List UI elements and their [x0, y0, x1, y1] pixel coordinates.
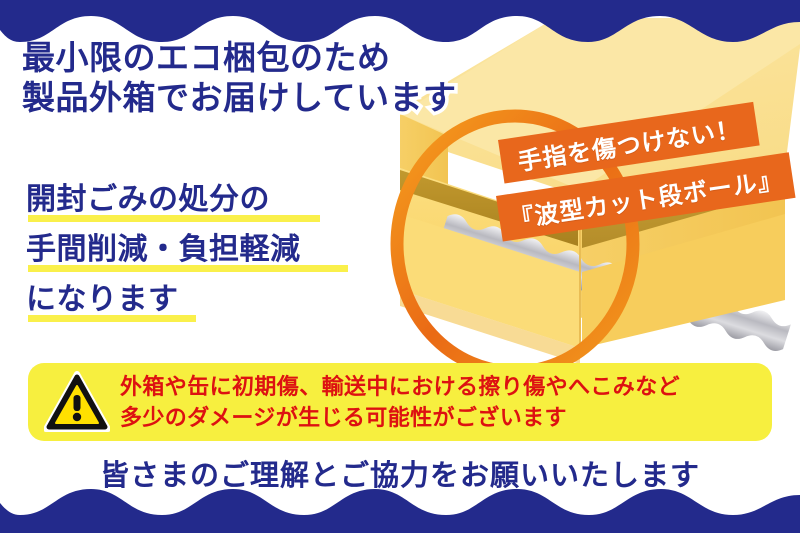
yellow-marker-1	[28, 215, 320, 222]
subcopy-line-3: になります	[26, 285, 179, 314]
headline-line-2: 製品外箱でお届けしています	[22, 78, 457, 118]
subcopy-line-1: 開封ごみの処分の	[26, 185, 270, 214]
yellow-marker-3	[28, 315, 196, 322]
warning-line-1: 外箱や缶に初期傷、輸送中における擦り傷やへこみなど	[120, 371, 680, 402]
warning-text: 外箱や缶に初期傷、輸送中における擦り傷やへこみなど 多少のダメージが生じる可能性…	[120, 371, 680, 433]
subcopy-block: 開封ごみの処分の 手間削減・負担軽減 になります	[26, 185, 301, 335]
promo-banner-canvas: 最小限のエコ梱包のため 最小限のエコ梱包のため 製品外箱でお届けしています 製品…	[0, 0, 800, 533]
subcopy-line-2: 手間削減・負担軽減	[26, 235, 301, 264]
closing-message: 皆さまのご理解とご協力をお願いいたします	[0, 452, 800, 494]
warning-line-2: 多少のダメージが生じる可能性がございます	[120, 402, 680, 433]
headline-line-1: 最小限のエコ梱包のため	[22, 38, 457, 78]
warning-triangle-icon	[44, 371, 110, 433]
headline: 最小限のエコ梱包のため 最小限のエコ梱包のため 製品外箱でお届けしています 製品…	[22, 38, 457, 118]
warning-notice-box: 外箱や缶に初期傷、輸送中における擦り傷やへこみなど 多少のダメージが生じる可能性…	[28, 363, 772, 441]
yellow-marker-2	[28, 265, 348, 272]
